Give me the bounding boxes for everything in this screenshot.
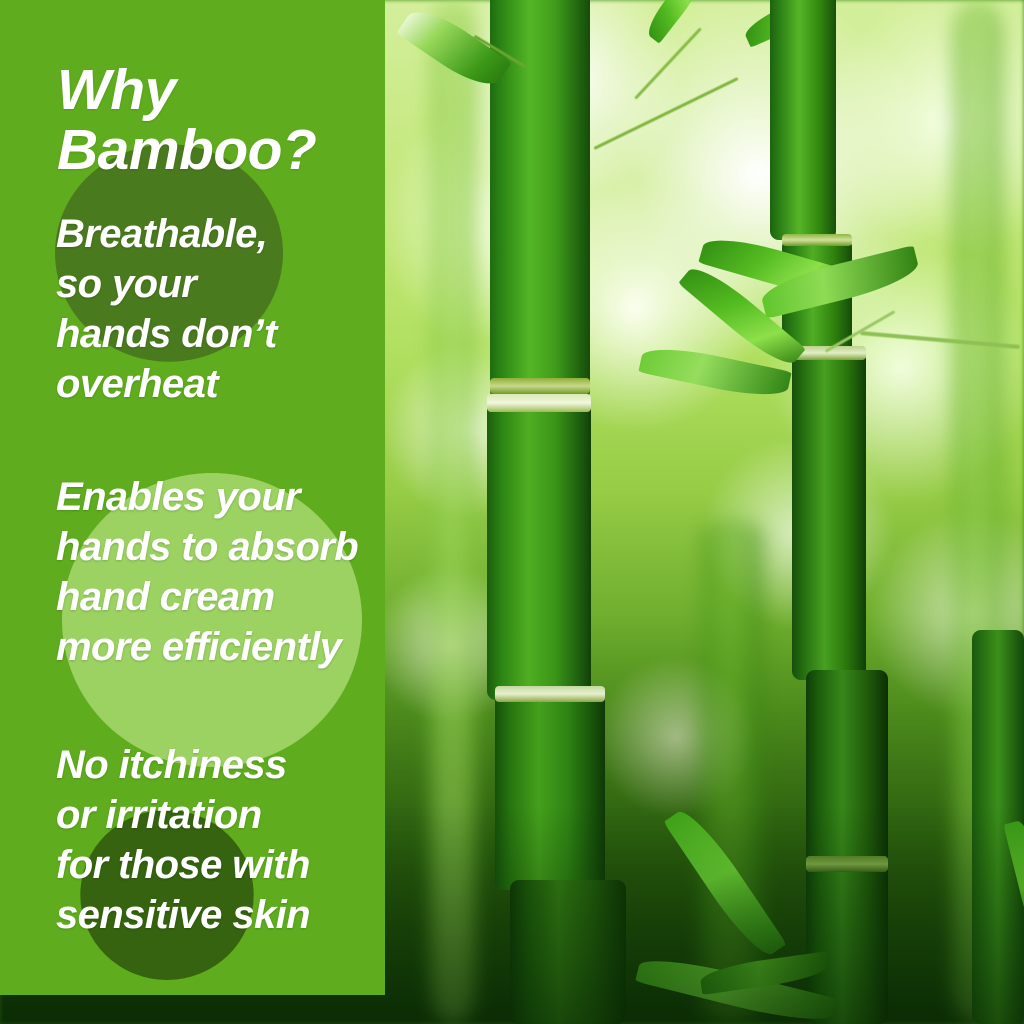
culm-node: [495, 686, 605, 702]
benefit-item-sensitive-skin: No itchiness or irritation for those wit…: [56, 740, 385, 940]
culm-node: [487, 394, 591, 412]
promo-image: Why Bamboo? Breathable, so your hands do…: [0, 0, 1024, 1024]
bamboo-culm-main: [487, 400, 591, 700]
benefit-item-breathable: Breathable, so your hands don’t overheat: [56, 209, 385, 409]
benefits-panel: Why Bamboo? Breathable, so your hands do…: [0, 0, 385, 995]
benefit-item-absorbs-hand-cream: Enables your hands to absorb hand cream …: [56, 472, 385, 672]
bamboo-culm-right: [770, 0, 836, 240]
page-title: Why Bamboo?: [57, 60, 377, 180]
culm-node: [782, 234, 852, 246]
bamboo-culm-right: [792, 350, 866, 680]
culm-node: [490, 378, 590, 394]
